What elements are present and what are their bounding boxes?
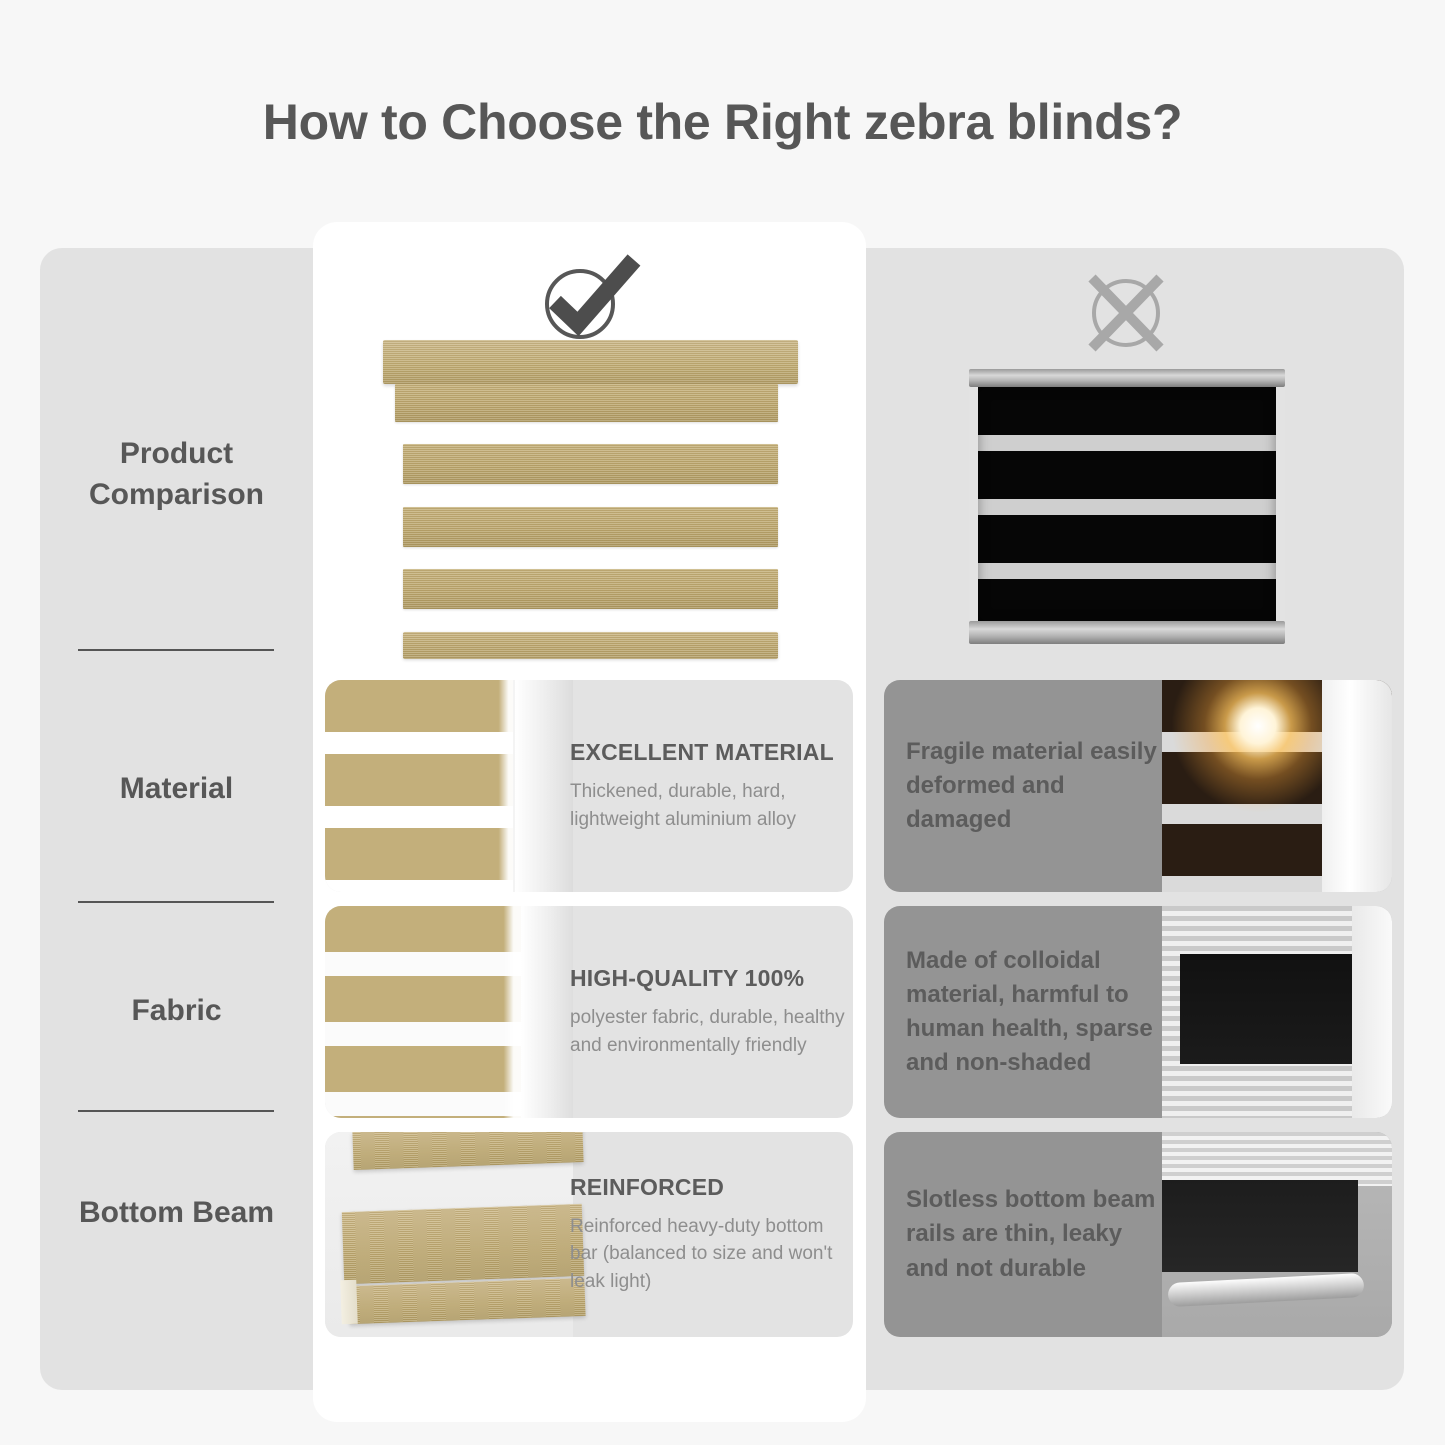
sparse-black-fabric-photo: [1162, 906, 1392, 1118]
blind-metal-headrail: [969, 369, 1285, 387]
feature-body: polyester fabric, durable, healthy and e…: [570, 1004, 845, 1059]
feature-body: Thickened, durable, hard, lightweight al…: [570, 778, 845, 833]
bottom-bar-slat: [342, 1204, 584, 1284]
good-feature-card-bottom-beam: REINFORCED Reinforced heavy-duty bottom …: [325, 1132, 853, 1337]
bad-feature-card-bottom-beam: Slotless bottom beam rails are thin, lea…: [884, 1132, 1392, 1337]
row-label-fabric: Fabric: [40, 990, 313, 1031]
dark-fabric-panel: [1162, 1180, 1358, 1272]
feature-negative-text: Made of colloidal material, harmful to h…: [906, 944, 1161, 1080]
blind-slat: [395, 384, 778, 422]
bad-feature-card-fabric: Made of colloidal material, harmful to h…: [884, 906, 1392, 1118]
row-label-material: Material: [40, 768, 313, 809]
sun-flare-icon: [1168, 680, 1348, 816]
bottom-bar-endcap: [340, 1280, 358, 1325]
row-label-product-comparison: Product Comparison: [40, 433, 313, 516]
blind-slat: [403, 507, 778, 547]
blind-headrail: [383, 340, 798, 384]
light-leak-sun-flare-photo: [1162, 680, 1392, 892]
window-frame: [1352, 906, 1392, 1118]
row-divider: [78, 1110, 274, 1112]
beige-blind-fabric-photo: [325, 906, 573, 1118]
feature-negative-text: Slotless bottom beam rails are thin, lea…: [906, 1183, 1161, 1285]
window-frame: [1322, 680, 1392, 892]
good-feature-card-material: EXCELLENT MATERIAL Thickened, durable, h…: [325, 680, 853, 892]
cross-circle-icon: [1078, 268, 1174, 356]
row-label-column: Product Comparison Material Fabric Botto…: [40, 248, 313, 1390]
thin-bottom-rail: [1168, 1273, 1365, 1307]
good-hero-blind-image: [383, 340, 798, 665]
feature-heading: REINFORCED: [570, 1174, 845, 1201]
bottom-bar-slat: [352, 1132, 583, 1170]
feature-negative-text: Fragile material easily deformed and dam…: [906, 735, 1161, 837]
bad-hero-blind-image: [969, 369, 1285, 646]
thin-bottom-rail-photo: [1162, 1132, 1392, 1337]
feature-body: Reinforced heavy-duty bottom bar (balanc…: [570, 1213, 845, 1296]
blind-slat: [403, 569, 778, 609]
dark-fabric-panel: [1180, 954, 1362, 1064]
row-label-bottom-beam: Bottom Beam: [40, 1192, 313, 1233]
row-divider: [78, 901, 274, 903]
feature-heading: EXCELLENT MATERIAL: [570, 739, 845, 766]
row-divider: [78, 649, 274, 651]
check-circle-icon: [533, 252, 643, 344]
sheer-louvers: [1162, 1132, 1392, 1186]
blind-slat: [403, 444, 778, 484]
beige-blind-closeup-photo: [325, 680, 573, 892]
bad-feature-card-material: Fragile material easily deformed and dam…: [884, 680, 1392, 892]
page-title: How to Choose the Right zebra blinds?: [0, 93, 1445, 151]
blind-metal-bottom-rail: [969, 621, 1285, 644]
blind-bottom-bar: [403, 632, 778, 659]
bottom-bar-slat: [348, 1278, 585, 1324]
feature-heading: HIGH-QUALITY 100%: [570, 965, 845, 992]
good-feature-card-fabric: HIGH-QUALITY 100% polyester fabric, dura…: [325, 906, 853, 1118]
blind-striped-fabric: [978, 387, 1276, 622]
reinforced-bottom-bar-photo: [325, 1132, 573, 1337]
